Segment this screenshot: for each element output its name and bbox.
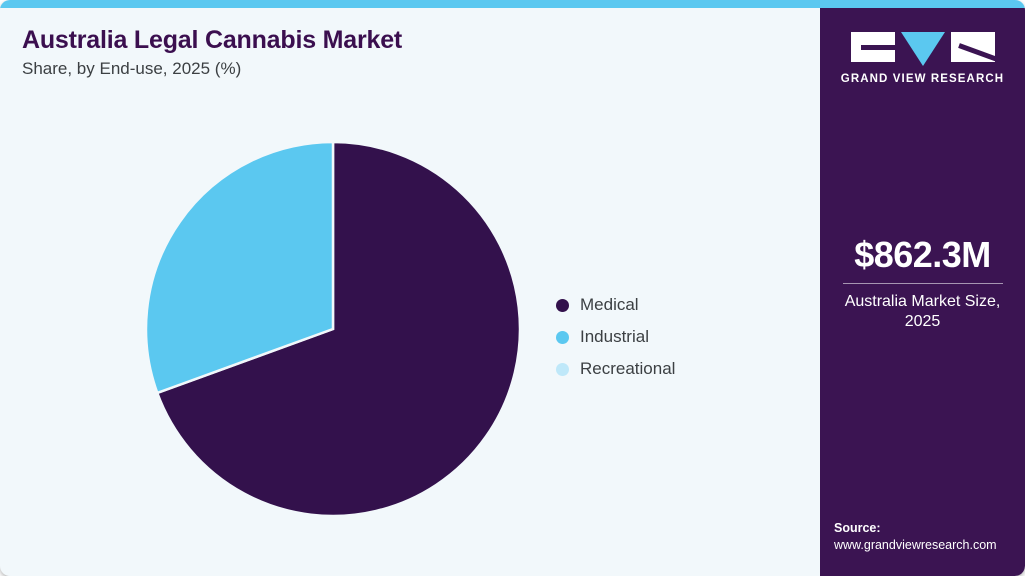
market-size-callout: $862.3M Australia Market Size, 2025	[820, 236, 1025, 332]
infographic-card: Australia Legal Cannabis Market Share, b…	[0, 0, 1025, 576]
logo-wordmark: GRAND VIEW RESEARCH	[820, 73, 1025, 85]
legend-color-swatch-icon	[556, 363, 569, 376]
logo-v-triangle-icon	[901, 32, 945, 66]
market-size-caption: Australia Market Size, 2025	[820, 292, 1025, 332]
legend-color-swatch-icon	[556, 331, 569, 344]
legend-color-swatch-icon	[556, 299, 569, 312]
pie-slices	[146, 142, 520, 516]
chart-area: Australia Legal Cannabis Market Share, b…	[0, 8, 820, 576]
logo-g-icon	[851, 32, 895, 62]
pie-chart	[144, 140, 522, 518]
source-url[interactable]: www.grandviewresearch.com	[834, 537, 1024, 554]
legend-item-recreational[interactable]: Recreational	[556, 353, 675, 385]
side-panel: GRAND VIEW RESEARCH $862.3M Australia Ma…	[820, 8, 1025, 576]
brand-logo[interactable]: GRAND VIEW RESEARCH	[820, 32, 1025, 85]
source-label: Source:	[834, 520, 1024, 537]
page-title: Australia Legal Cannabis Market	[22, 26, 782, 54]
title-block: Australia Legal Cannabis Market Share, b…	[22, 26, 782, 79]
chart-legend: Medical Industrial Recreational	[556, 289, 675, 385]
source-block: Source: www.grandviewresearch.com	[834, 520, 1024, 554]
page-subtitle: Share, by End-use, 2025 (%)	[22, 59, 782, 79]
logo-marks	[820, 32, 1025, 66]
legend-item-medical[interactable]: Medical	[556, 289, 675, 321]
divider	[843, 283, 1003, 284]
top-accent-bar	[0, 0, 1025, 8]
legend-label: Medical	[580, 295, 639, 315]
logo-r-icon	[951, 32, 995, 62]
market-size-value: $862.3M	[820, 236, 1025, 274]
legend-label: Industrial	[580, 327, 649, 347]
legend-label: Recreational	[580, 359, 675, 379]
pie-chart-svg	[144, 140, 522, 518]
legend-item-industrial[interactable]: Industrial	[556, 321, 675, 353]
